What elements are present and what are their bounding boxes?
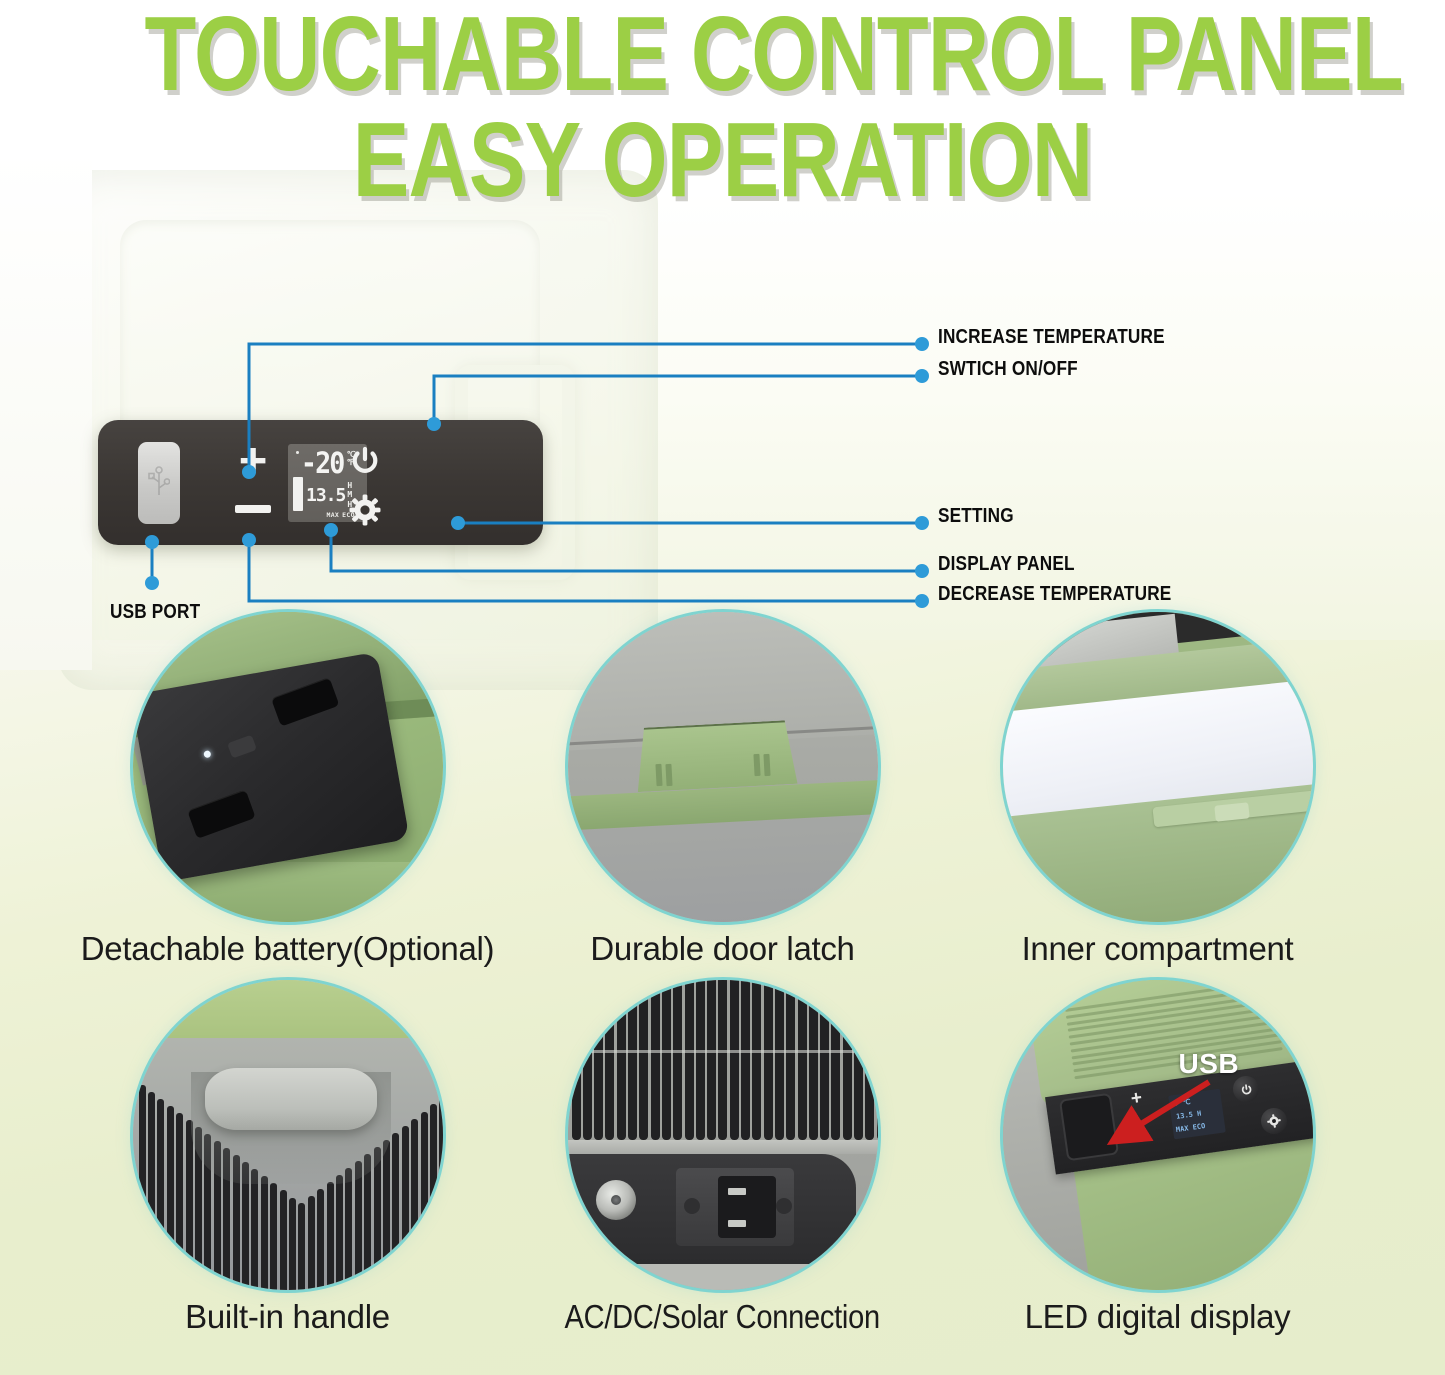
vent-slat — [280, 1190, 287, 1290]
latch-grip — [655, 764, 662, 786]
vent-slat — [583, 980, 592, 1140]
vent-slat — [594, 980, 603, 1140]
vent-slat — [317, 1189, 324, 1290]
ac-inlet-screw-ear — [684, 1198, 700, 1214]
feature-caption: AC/DC/Solar Connection — [565, 1298, 880, 1336]
vent-slat — [345, 1168, 352, 1290]
vent-slat — [261, 1176, 268, 1290]
vent-slat — [327, 1182, 334, 1290]
vent-slat — [421, 1112, 428, 1290]
vent-slat — [157, 1099, 164, 1290]
vent-slat — [809, 980, 818, 1140]
battery-slot — [270, 677, 339, 726]
power-icon — [1238, 1082, 1253, 1097]
plus-icon: + — [239, 437, 268, 486]
usb-label: USB — [1179, 1048, 1240, 1080]
vent-slat — [662, 980, 671, 1140]
feature-detachable-battery: Detachable battery(Optional) — [133, 612, 443, 968]
feature-durable-door-latch: Durable door latch — [568, 612, 878, 968]
ac-inlet-screw-ear — [776, 1198, 792, 1214]
vent-slat — [605, 980, 614, 1140]
vent-slat — [741, 980, 750, 1140]
usb-port-cover[interactable] — [138, 442, 180, 524]
vent-slat — [673, 980, 682, 1140]
vent-slat — [685, 980, 694, 1140]
body-bottom — [568, 1264, 878, 1290]
vent-slat — [167, 1106, 174, 1290]
vent-slat — [139, 1085, 146, 1291]
callout-usb-port: USB PORT — [110, 601, 200, 624]
vent-slat — [854, 980, 863, 1140]
vent-slat — [843, 980, 852, 1140]
feature-ac-dc-solar: AC/DC/Solar Connection — [568, 980, 878, 1336]
headline-line-2: EASY OPERATION — [145, 106, 1301, 212]
latch-grip — [665, 764, 672, 786]
setting-button[interactable] — [343, 488, 387, 532]
ac-inlet-contact — [728, 1188, 746, 1195]
green-top-edge — [133, 980, 443, 1042]
usb-pointer-arrow — [1099, 1076, 1219, 1166]
photo-led-digital-display: + − ❄ ℃ 13.5 H MAX ECO — [1003, 980, 1313, 1290]
vent-slat — [865, 980, 874, 1140]
vent-slat — [651, 980, 660, 1140]
vent-slat — [628, 980, 637, 1140]
battery-led-indicator — [203, 750, 211, 758]
vent-slat — [572, 980, 581, 1140]
feature-caption: Durable door latch — [590, 930, 854, 968]
vent-slat — [148, 1092, 155, 1290]
vent-slat — [798, 980, 807, 1140]
vent-slat — [820, 980, 829, 1140]
increase-temperature-button[interactable]: + — [230, 438, 276, 484]
background-left-wash — [0, 150, 92, 670]
ac-inlet-contact — [728, 1220, 746, 1227]
callout-switch-on-off: SWTICH ON/OFF — [938, 358, 1078, 381]
vent-slat — [336, 1175, 343, 1290]
power-icon — [348, 443, 382, 477]
vent-slat — [707, 980, 716, 1140]
lcd-temperature-value: -20 — [301, 450, 344, 477]
lcd-battery-bar — [293, 477, 303, 511]
battery-button — [227, 735, 257, 759]
gear-icon — [349, 494, 381, 526]
photo-detachable-battery — [133, 612, 443, 922]
ac-inlet-port — [718, 1176, 776, 1238]
vent-slat — [752, 980, 761, 1140]
callout-increase-temperature: INCREASE TEMPERATURE — [938, 326, 1165, 349]
body-ledge — [568, 1140, 878, 1154]
feature-caption: Detachable battery(Optional) — [81, 930, 495, 968]
vent-slat — [764, 980, 773, 1140]
vent-slat — [696, 980, 705, 1140]
feature-row-bottom: Built-in handle AC/DC/Solar Connection — [0, 980, 1445, 1336]
usb-icon — [148, 466, 170, 500]
lcd-mode-max: MAX — [327, 511, 340, 519]
photo-built-in-handle — [133, 980, 443, 1290]
feature-built-in-handle: Built-in handle — [133, 980, 443, 1336]
minus-icon — [235, 505, 271, 513]
feature-caption: Inner compartment — [1022, 930, 1294, 968]
battery-slot — [187, 789, 256, 838]
vent-slat — [775, 980, 784, 1140]
vent-slat — [718, 980, 727, 1140]
callout-setting: SETTING — [938, 505, 1014, 528]
vent-slat — [411, 1119, 418, 1290]
feature-led-digital-display: + − ❄ ℃ 13.5 H MAX ECO — [1003, 980, 1313, 1336]
vent-slat — [176, 1113, 183, 1290]
vent-slat — [877, 980, 878, 1140]
vent-slat — [730, 980, 739, 1140]
vent-slat — [270, 1183, 277, 1290]
photo-ac-dc-solar-connection — [568, 980, 878, 1290]
photo-inner-compartment — [1003, 612, 1313, 922]
lcd-indicator-dot — [296, 451, 299, 454]
vent-slat — [251, 1169, 258, 1290]
vent-slat — [298, 1203, 305, 1290]
vent-slat — [383, 1140, 390, 1290]
vent-slat — [402, 1126, 409, 1290]
lcd-voltage-value: 13.5 — [306, 485, 345, 506]
vent-slat — [186, 1120, 193, 1290]
vent-slat — [374, 1147, 381, 1290]
vent-slat — [308, 1196, 315, 1290]
vent-slat — [831, 980, 840, 1140]
vent-slat — [289, 1198, 296, 1290]
dc-jack-pin — [611, 1195, 621, 1205]
vent-slat — [617, 980, 626, 1140]
headline-block: TOUCHABLE CONTROL PANEL EASY OPERATION — [0, 0, 1445, 212]
latch-grip — [763, 754, 770, 776]
power-button[interactable] — [343, 438, 387, 482]
callout-display-panel: DISPLAY PANEL — [938, 553, 1075, 576]
battery-pack — [133, 652, 410, 883]
handle-grip — [205, 1068, 377, 1130]
feature-inner-compartment: Inner compartment — [1003, 612, 1313, 968]
feature-grid: Detachable battery(Optional) Durable doo… — [0, 612, 1445, 1336]
latch-grip — [753, 754, 760, 776]
control-panel[interactable]: + -20 ℃ ℉ 13.5 H M H MAX ECO L — [98, 420, 543, 545]
vent-slat — [392, 1133, 399, 1290]
vent-slat — [439, 1097, 442, 1290]
vent-divider — [568, 1050, 878, 1053]
vent-slat — [786, 980, 795, 1140]
headline-line-1: TOUCHABLE CONTROL PANEL — [145, 0, 1301, 106]
vent-slat — [430, 1104, 437, 1290]
vent-slat — [639, 980, 648, 1140]
gear-icon — [1266, 1113, 1282, 1129]
feature-caption: LED digital display — [1025, 1298, 1291, 1336]
photo-door-latch — [568, 612, 878, 922]
callout-decrease-temperature: DECREASE TEMPERATURE — [938, 583, 1171, 606]
feature-caption: Built-in handle — [185, 1298, 390, 1336]
vent-slat — [355, 1161, 362, 1290]
vent-slats — [568, 980, 878, 1140]
decrease-temperature-button[interactable] — [230, 486, 276, 532]
feature-row-top: Detachable battery(Optional) Durable doo… — [0, 612, 1445, 968]
